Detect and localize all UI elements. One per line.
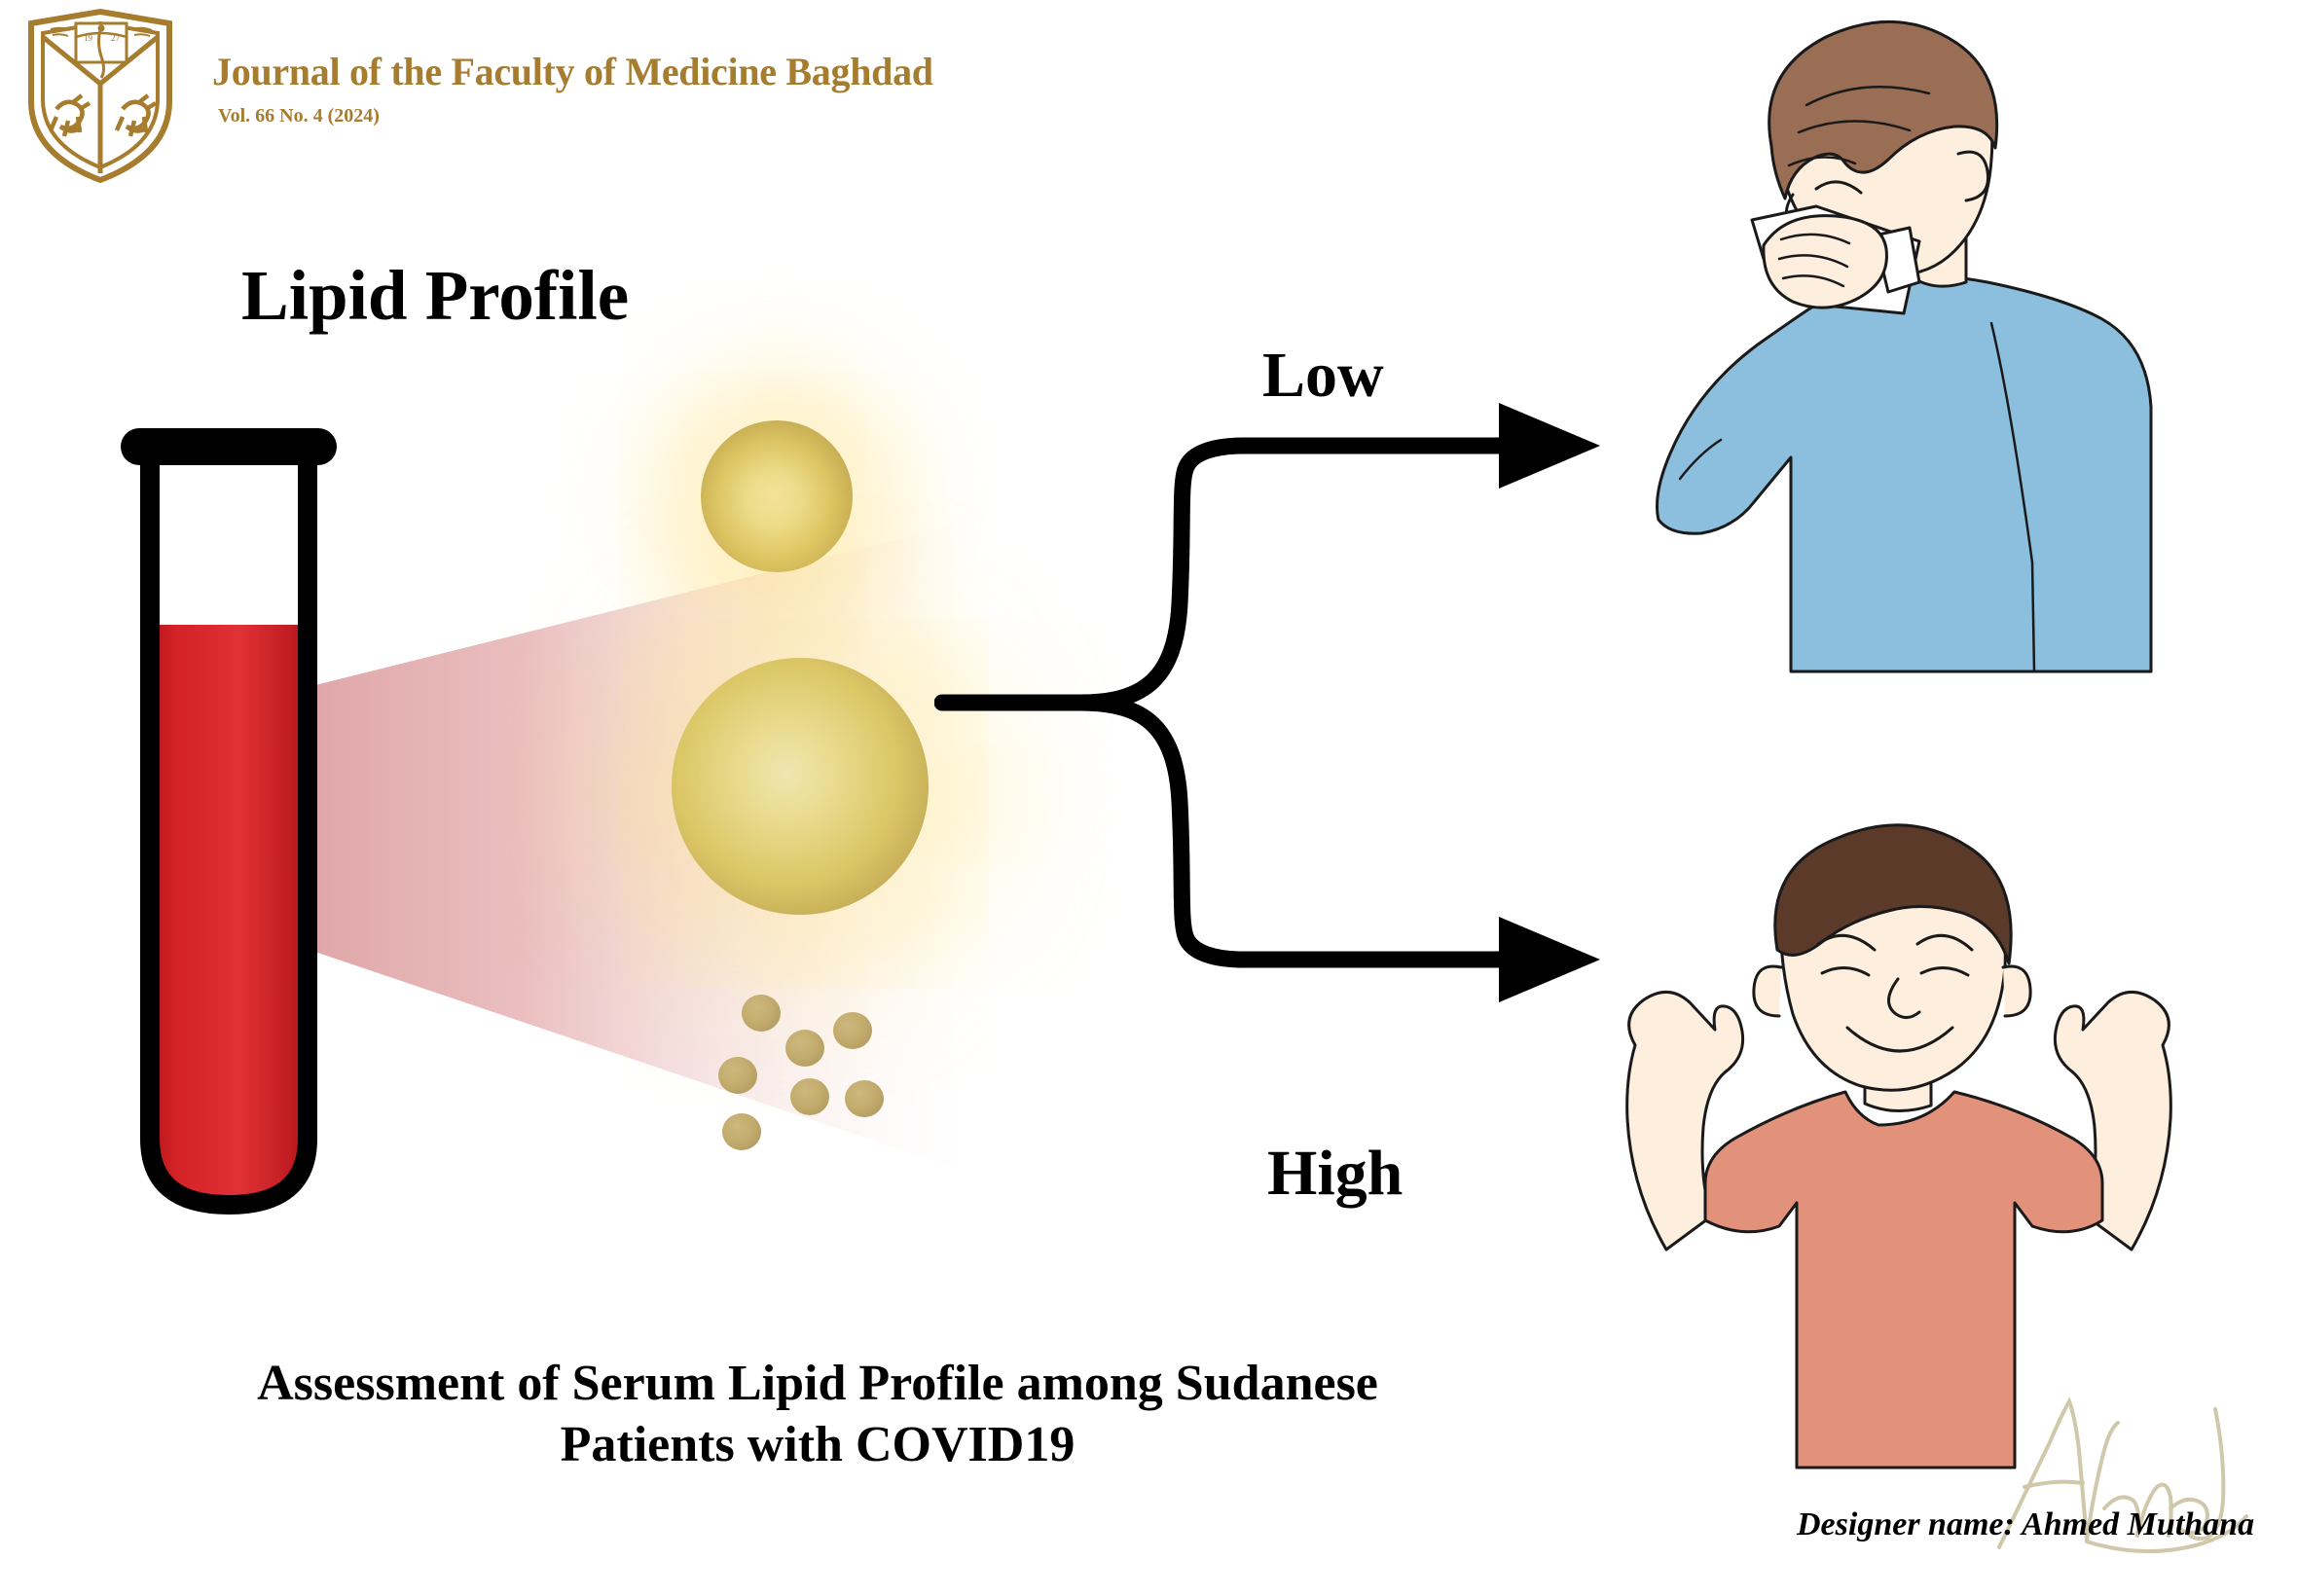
svg-text:27: 27	[111, 33, 121, 43]
arrow-right-icon	[1499, 403, 1600, 489]
arrow-right-icon	[1499, 917, 1600, 1002]
lipid-micro-droplet-icon	[785, 1030, 824, 1067]
designer-credit: Designer name: Ahmed Muthana	[1797, 1506, 2254, 1543]
lipid-micro-droplet-icon	[790, 1078, 829, 1115]
sick-person-sneezing-icon	[1645, 18, 2190, 679]
lipid-micro-droplet-icon	[845, 1080, 884, 1117]
baghdad-university-shield-icon: 19 27	[18, 8, 183, 183]
branch-arrow-connector	[934, 321, 1616, 1129]
lipid-micro-droplet-icon	[722, 1113, 761, 1150]
study-title: Assessment of Serum Lipid Profile among …	[97, 1353, 1538, 1476]
blood-test-tube-icon	[107, 418, 350, 1236]
lipid-micro-droplet-icon	[718, 1057, 757, 1094]
branch-label-low: Low	[1262, 339, 1384, 413]
svg-text:19: 19	[84, 33, 93, 43]
healthy-person-flexing-icon	[1596, 796, 2200, 1487]
lipid-micro-droplet-cluster	[681, 983, 934, 1178]
graphical-abstract-canvas: 19 27	[0, 0, 2297, 1596]
lipid-droplet-large-icon	[672, 658, 929, 915]
lipid-micro-droplet-icon	[742, 995, 781, 1032]
lipid-micro-droplet-icon	[833, 1012, 872, 1049]
lipid-profile-heading: Lipid Profile	[241, 255, 629, 337]
journal-header: 19 27	[18, 8, 1088, 188]
journal-volume-issue: Vol. 66 No. 4 (2024)	[218, 105, 380, 127]
study-title-line-2: Patients with COVID19	[97, 1414, 1538, 1475]
lipid-droplet-small-icon	[701, 420, 853, 572]
journal-title: Journal of the Faculty of Medicine Baghd…	[212, 49, 933, 94]
study-title-line-1: Assessment of Serum Lipid Profile among …	[97, 1353, 1538, 1414]
branch-label-high: High	[1267, 1137, 1403, 1211]
